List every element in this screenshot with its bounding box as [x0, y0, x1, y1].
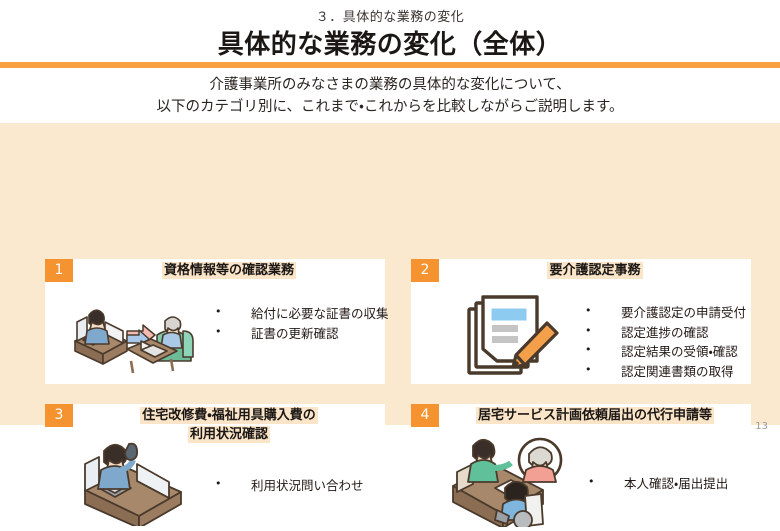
- list-item: 認定結果の受領・確認: [583, 342, 746, 362]
- card-bullet-list: 本人確認・届出提出: [586, 474, 728, 494]
- card-number-badge: 3: [45, 404, 73, 427]
- accent-divider: [0, 62, 780, 68]
- card-title-text: 資格情報等の確認業務: [162, 262, 296, 279]
- card-number-badge: 4: [411, 404, 439, 427]
- list-item: 利用状況問い合わせ: [213, 476, 364, 496]
- category-card-1[interactable]: 1 資格情報等の確認業務: [45, 259, 385, 384]
- slide-eyebrow: ３．具体的な業務の変化: [0, 6, 780, 25]
- lead-paragraph: 介護事業所のみなさまの業務の具体的な変化について、 以下のカテゴリ別に、これまで…: [0, 74, 780, 118]
- list-item: 認定進捗の確認: [583, 323, 746, 343]
- card-title-text-line2: 利用状況確認: [188, 426, 270, 443]
- card-title: 資格情報等の確認業務: [79, 262, 379, 281]
- card-number-badge: 2: [411, 259, 439, 282]
- card-bullet-list: 要介護認定の申請受付 認定進捗の確認 認定結果の受領・確認 認定関連書類の取得: [583, 303, 746, 381]
- list-item: 給付に必要な証書の収集: [213, 304, 389, 324]
- desk-staff-and-senior-on-sofa-illustration: [65, 291, 205, 379]
- category-card-3[interactable]: 3 住宅改修費・福祉用具購入費の 利用状況確認: [45, 404, 385, 527]
- category-panel: 1 資格情報等の確認業務: [0, 123, 780, 425]
- card-number-badge: 1: [45, 259, 73, 282]
- category-card-2[interactable]: 2 要介護認定事務: [411, 259, 751, 384]
- card-title-text: 居宅サービス計画依頼届出の代行申請等: [476, 407, 714, 424]
- page-title: 具体的な業務の変化（全体）: [0, 24, 780, 61]
- card-title-text: 要介護認定事務: [547, 262, 642, 279]
- card-title-text-line1: 住宅改修費・福祉用具購入費の: [140, 407, 317, 424]
- reception-counter-with-wheelchair-user-illustration: [447, 432, 577, 527]
- card-bullet-list: 給付に必要な証書の収集 証書の更新確認: [213, 304, 389, 343]
- list-item: 認定関連書類の取得: [583, 362, 746, 382]
- page-number: 13: [755, 421, 768, 432]
- list-item: 本人確認・届出提出: [586, 474, 728, 494]
- list-item: 要介護認定の申請受付: [583, 303, 746, 323]
- category-card-4[interactable]: 4 居宅サービス計画依頼届出の代行申請等: [411, 404, 751, 527]
- documents-with-pen-illustration: [459, 293, 569, 381]
- card-title: 居宅サービス計画依頼届出の代行申請等: [445, 407, 745, 426]
- list-item: 証書の更新確認: [213, 324, 389, 344]
- category-grid: 1 資格情報等の確認業務: [45, 259, 735, 527]
- card-bullet-list: 利用状況問い合わせ: [213, 476, 364, 496]
- lead-line-1: 介護事業所のみなさまの業務の具体的な変化について、: [0, 74, 780, 96]
- lead-line-2: 以下のカテゴリ別に、これまで・これからを比較しながらご説明します。: [0, 96, 780, 118]
- staff-on-phone-at-desk-illustration: [77, 434, 197, 526]
- card-title: 要介護認定事務: [445, 262, 745, 281]
